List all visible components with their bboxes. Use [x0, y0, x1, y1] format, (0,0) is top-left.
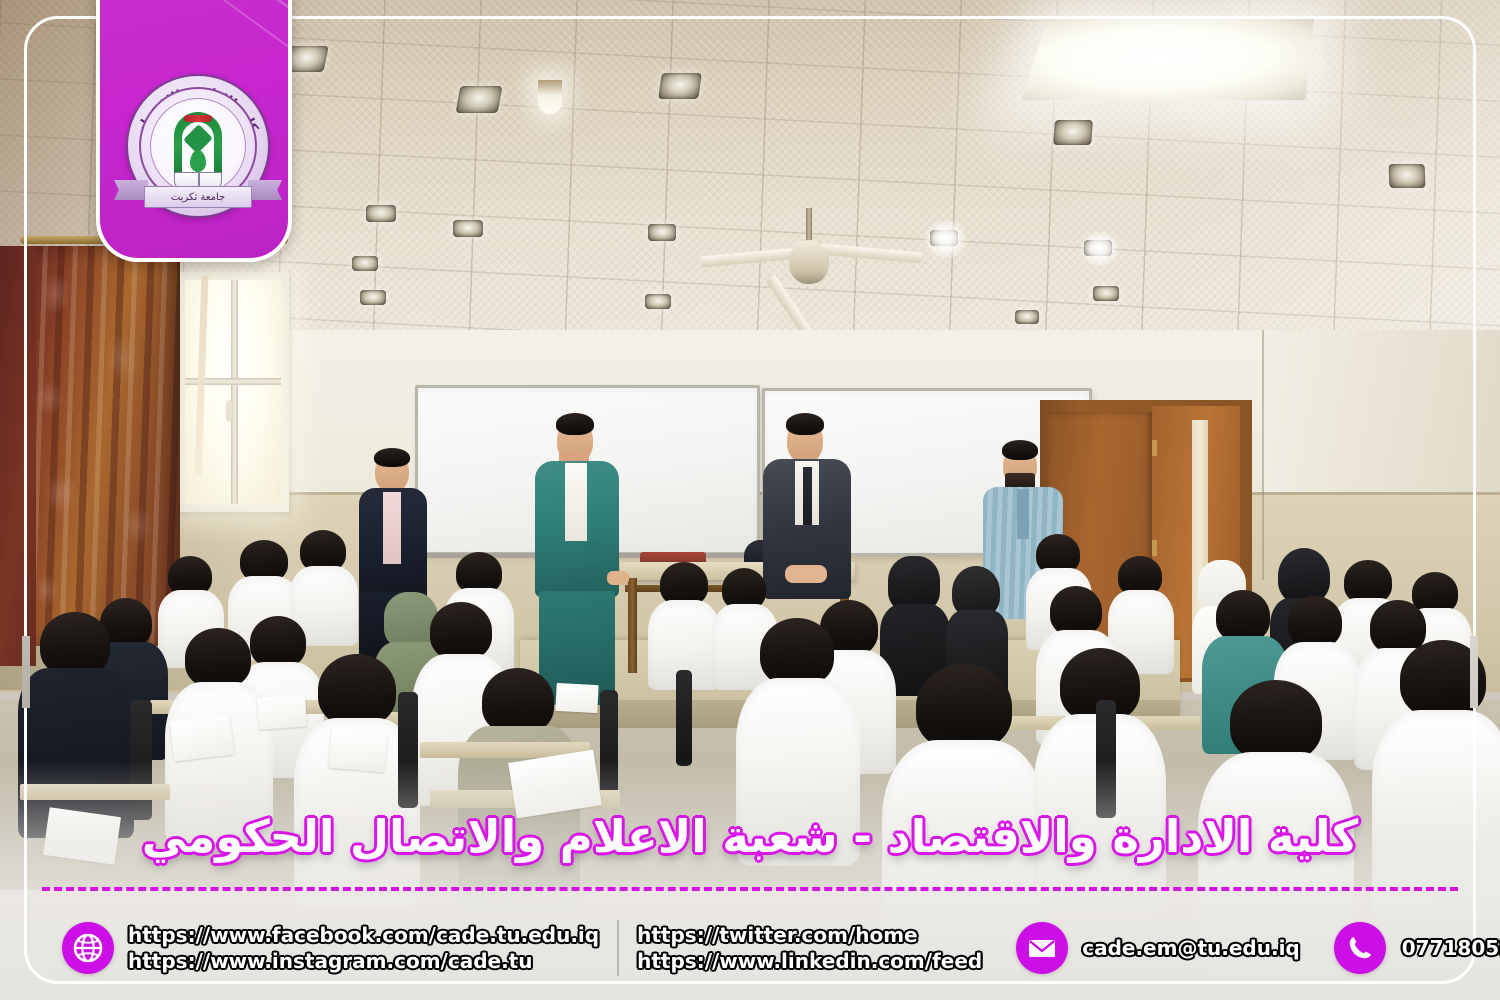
- globe-icon[interactable]: [62, 922, 114, 974]
- email-address[interactable]: cade.em@tu.edu.iq: [1082, 936, 1300, 960]
- hair: [1216, 590, 1270, 642]
- ribbon-university-name: جامعة تكريت: [144, 186, 252, 208]
- college-seal: كلية الادارة والاقتصاد College of Admini…: [114, 74, 282, 212]
- clasped-hands: [785, 565, 827, 583]
- hair: [430, 602, 492, 660]
- college-logo-badge: كلية الادارة والاقتصاد College of Admini…: [96, 0, 292, 262]
- hair: [185, 628, 251, 688]
- hair: [1288, 596, 1342, 648]
- hair: [1050, 586, 1102, 636]
- curtain-floral-pattern: [28, 246, 180, 646]
- envelope-icon[interactable]: [1016, 922, 1068, 974]
- shirt-placket: [1017, 489, 1029, 539]
- ceiling-spotlight: [1015, 310, 1039, 324]
- ceiling-spotlight: [360, 290, 386, 305]
- necktie: [803, 467, 812, 525]
- frame-gap-left: [22, 636, 30, 708]
- footer-web-links: https://www.facebook.com/cade.tu.edu.iq …: [128, 923, 599, 974]
- hair: [374, 448, 410, 467]
- hair: [40, 612, 110, 676]
- hair: [786, 413, 824, 435]
- door-hinge: [1152, 540, 1157, 556]
- phone-icon[interactable]: [1334, 922, 1386, 974]
- spotlight-glow: [922, 220, 970, 258]
- footer-email-lines: cade.em@tu.edu.iq: [1082, 936, 1300, 960]
- ceiling-spotlight: [1093, 286, 1119, 301]
- exam-paper: [257, 694, 307, 729]
- hijab-black: [1278, 548, 1330, 604]
- exam-paper: [555, 683, 598, 713]
- exam-paper: [170, 714, 234, 761]
- curtain: [28, 246, 180, 646]
- page-title: كلية الادارة والاقتصاد - شعبة الاعلام وا…: [0, 812, 1500, 862]
- footer-social-links: https://twitter.com/home https://www.lin…: [637, 923, 982, 974]
- seal-ribbon: جامعة تكريت: [114, 180, 282, 214]
- curtain-edge-left: [0, 246, 36, 666]
- hair: [318, 654, 396, 726]
- ceiling-spotlight: [645, 294, 671, 309]
- seal-arch-banner: [184, 115, 212, 122]
- ceiling-fan-rod: [806, 208, 812, 244]
- ceiling-spotlight: [453, 220, 483, 237]
- ceiling-vent: [1053, 120, 1093, 145]
- hair: [250, 616, 306, 668]
- window-mullion: [231, 280, 238, 504]
- desk-leg: [628, 578, 637, 673]
- ceiling-fan-hub: [789, 240, 829, 284]
- hair: [1370, 600, 1426, 654]
- hair: [1230, 680, 1322, 762]
- ceiling-spotlight: [352, 256, 378, 271]
- footer-contact-bar: https://www.facebook.com/cade.tu.edu.iq …: [0, 902, 1500, 994]
- ceiling-panel-light: [1021, 17, 1314, 101]
- spotlight-glow: [1078, 232, 1122, 266]
- seal-leaf-motif: [190, 150, 206, 172]
- ribbon-tail-left: [114, 180, 148, 200]
- ceiling-spotlight: [366, 205, 396, 222]
- ribbon-tail-right: [248, 180, 282, 200]
- ceiling-vent: [1389, 164, 1426, 188]
- linkedin-url[interactable]: https://www.linkedin.com/feed: [637, 949, 982, 973]
- ceiling-vent: [658, 73, 702, 99]
- hair: [556, 413, 594, 435]
- hair: [916, 664, 1012, 750]
- door-hinge: [1152, 440, 1157, 456]
- poster-canvas: كلية الادارة والاقتصاد College of Admini…: [0, 0, 1500, 1000]
- footer-phone-lines: 07718055128: [1402, 936, 1500, 960]
- footer-group-phone: 07718055128: [1334, 922, 1500, 974]
- dress-shirt: [383, 492, 401, 564]
- dress-shirt: [565, 463, 587, 541]
- phone-number[interactable]: 07718055128: [1402, 936, 1500, 960]
- footer-group-social: https://twitter.com/home https://www.lin…: [637, 923, 982, 974]
- chair-back: [676, 670, 692, 766]
- twitter-url[interactable]: https://twitter.com/home: [637, 923, 982, 947]
- footer-group-email: cade.em@tu.edu.iq: [1016, 922, 1300, 974]
- facebook-url[interactable]: https://www.facebook.com/cade.tu.edu.iq: [128, 923, 599, 947]
- footer-divider: [617, 920, 619, 976]
- frame-gap-right: [1470, 636, 1478, 708]
- pendant-bulb: [538, 80, 562, 114]
- instagram-url[interactable]: https://www.instagram.com/cade.tu: [128, 949, 599, 973]
- ceiling-vent: [456, 86, 503, 113]
- wall-corner-edge: [1262, 330, 1264, 580]
- hair: [482, 668, 554, 734]
- hair: [760, 618, 834, 686]
- footer-group-web: https://www.facebook.com/cade.tu.edu.iq …: [62, 922, 599, 974]
- hair: [1002, 440, 1038, 460]
- dashed-divider: [42, 887, 1458, 891]
- hand: [607, 571, 629, 585]
- ceiling-spotlight: [648, 224, 676, 241]
- window-handle: [226, 400, 232, 422]
